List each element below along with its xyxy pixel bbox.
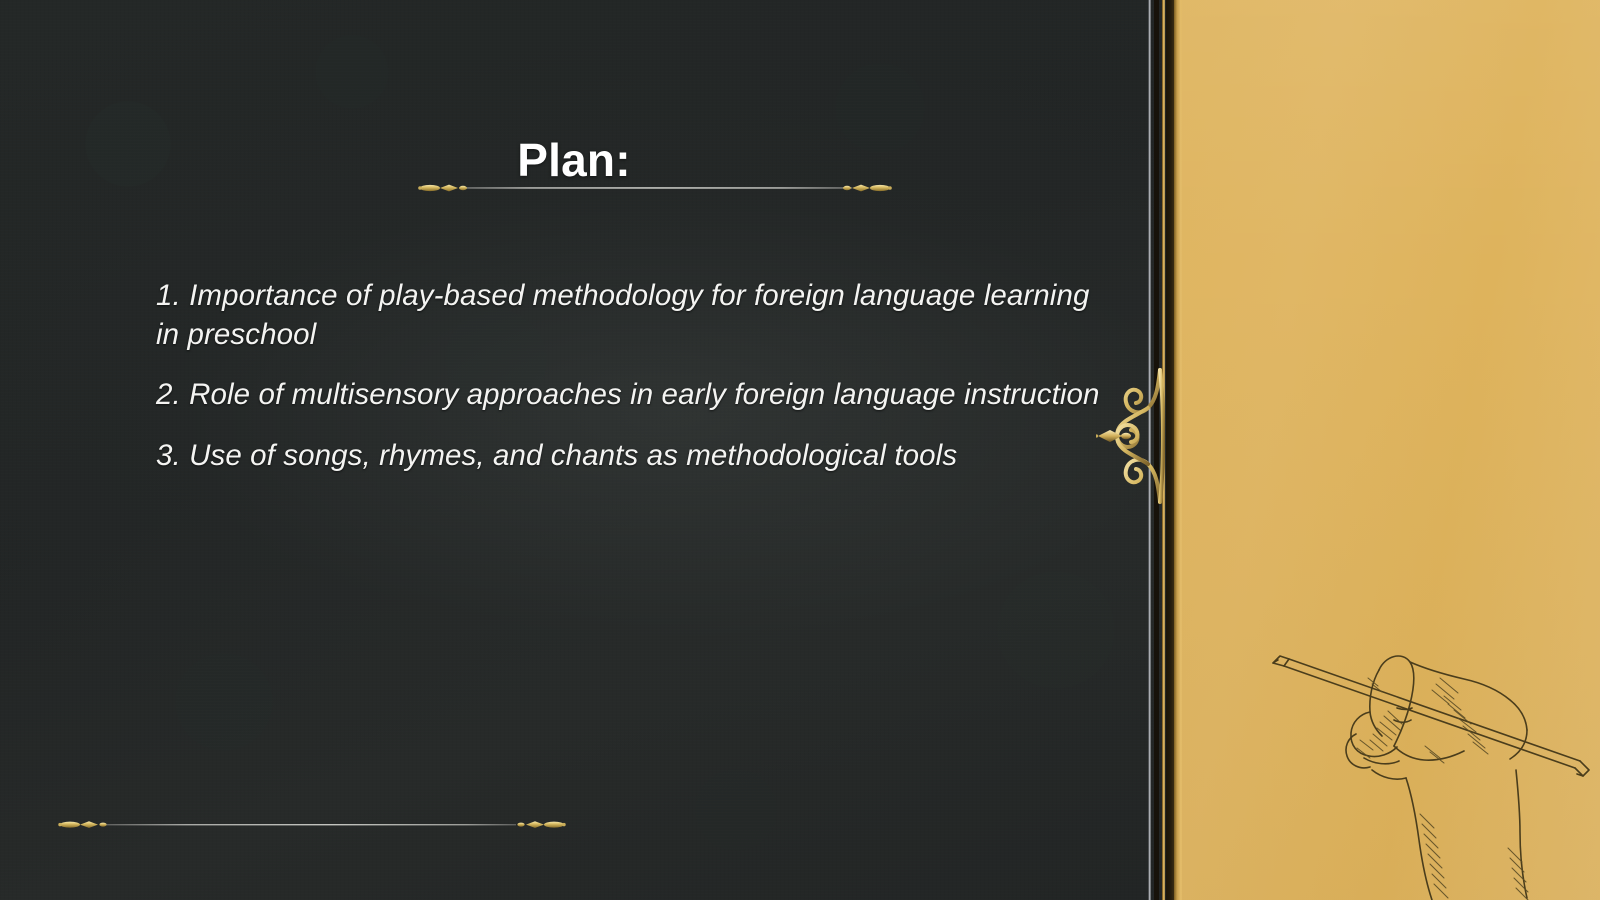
ornamental-divider-icon — [418, 180, 892, 196]
bottom-divider — [56, 816, 568, 832]
border-rule-silver — [1148, 0, 1151, 900]
page-title: Plan: — [0, 133, 1148, 187]
plan-item-3: 3. Use of songs, rhymes, and chants as m… — [156, 436, 1104, 475]
title-divider — [418, 180, 892, 196]
plan-item-2: 2. Role of multisensory approaches in ea… — [156, 375, 1104, 414]
gold-panel-sheen — [1182, 0, 1600, 900]
slide-canvas: Plan: — [0, 0, 1600, 900]
hand-holding-pencil-illustration — [1242, 618, 1600, 900]
border-rule-dark — [1166, 0, 1174, 900]
border-rule-gap — [1154, 0, 1159, 900]
plan-item-1: 1. Importance of play-based methodology … — [156, 276, 1104, 354]
plan-list: 1. Importance of play-based methodology … — [156, 276, 1104, 475]
ornamental-divider-icon — [56, 816, 568, 832]
border-rule-gold — [1162, 0, 1165, 900]
gold-side-panel — [1182, 0, 1600, 900]
hand-holding-pencil-icon — [1242, 618, 1600, 900]
